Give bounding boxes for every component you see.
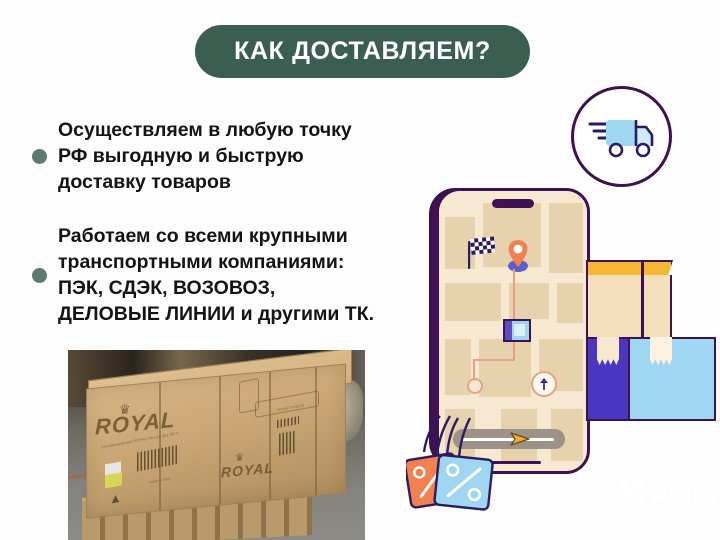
shopping-bags-icon [406, 412, 516, 527]
delivery-truck-icon [588, 115, 656, 159]
photo-barcode-2 [279, 431, 295, 456]
map-block [479, 339, 531, 397]
map-block [549, 203, 583, 273]
bullet-text-2: Работаем со всеми крупными транспортными… [58, 224, 374, 328]
map-block [445, 283, 501, 321]
checkered-flag-icon [465, 235, 497, 269]
blue-box [628, 337, 716, 421]
delivery-truck-badge [571, 86, 672, 187]
phone-speaker-notch [492, 199, 534, 208]
map-block [509, 283, 549, 319]
kraft-box [586, 275, 672, 339]
photo-cardboard-box: ♛ ROYAL Беговая дорожка ROYAL Fitness ар… [86, 363, 346, 518]
compass-up-arrow-icon [531, 371, 557, 397]
avito-watermark-text: Avito [651, 479, 718, 509]
bullet-dot-icon [32, 268, 47, 283]
route-line-horizontal [473, 359, 515, 361]
avito-logo-icon [617, 478, 646, 505]
photo-product-line-drawing-2 [255, 390, 319, 418]
delivery-illustration: Avito [400, 60, 720, 540]
photo-brand-logo-secondary: ROYAL [221, 459, 274, 480]
photo-barcode-3 [277, 416, 299, 428]
bullet-item-2: Работаем со всеми крупными транспортными… [32, 224, 422, 328]
package-icon [503, 319, 531, 342]
map-pin-icon [507, 239, 529, 273]
photo-barcode-1 [137, 445, 179, 472]
bullet-item-1: Осуществляем в любую точку РФ выгодную и… [32, 118, 422, 196]
kraft-box-seam [641, 262, 644, 338]
bullet-text-1: Осуществляем в любую точку РФ выгодную и… [58, 118, 352, 196]
avito-watermark: Avito [615, 475, 720, 509]
slide-canvas: КАК ДОСТАВЛЯЕМ? Осуществляем в любую точ… [0, 0, 720, 540]
map-block [557, 283, 583, 323]
product-photo: ♛ ROYAL Беговая дорожка ROYAL Fitness ар… [68, 350, 365, 540]
photo-this-way-up-arrow-icon: ▲ [109, 490, 122, 507]
bullet-dot-icon [32, 149, 47, 164]
route-endpoint-icon [467, 378, 483, 394]
route-line-vertical-top [513, 269, 515, 319]
